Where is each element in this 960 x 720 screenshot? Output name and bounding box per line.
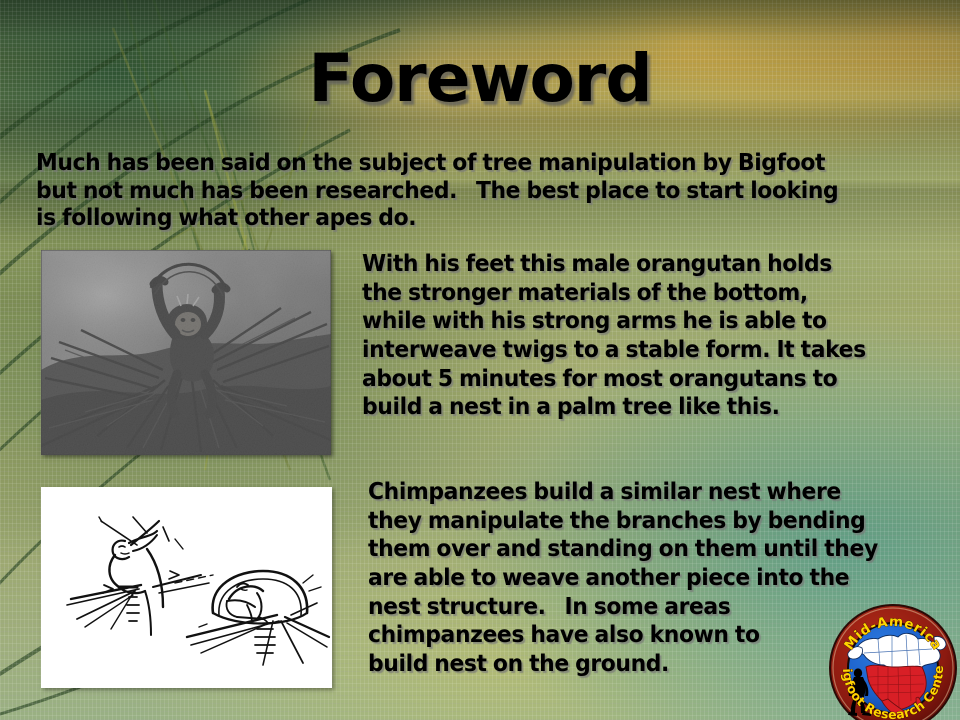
orangutan-caption-line: the stronger materials of the bottom, bbox=[362, 278, 957, 307]
chimpanzee-caption-line: are able to weave another piece into the bbox=[368, 563, 954, 592]
orangutan-caption-line: about 5 minutes for most orangutans to bbox=[362, 364, 957, 393]
orangutan-caption-line: build a nest in a palm tree like this. bbox=[362, 392, 957, 421]
slide-canvas: Foreword Much has been said on the subje… bbox=[0, 0, 960, 720]
orangutan-photo bbox=[41, 250, 331, 455]
intro-paragraph: Much has been said on the subject of tre… bbox=[36, 149, 960, 232]
intro-line: Much has been said on the subject of tre… bbox=[36, 149, 960, 177]
chimpanzee-caption-line: Chimpanzees build a similar nest where bbox=[368, 477, 954, 506]
intro-line: is following what other apes do. bbox=[36, 204, 960, 232]
orangutan-caption-line: interweave twigs to a stable form. It ta… bbox=[362, 335, 957, 364]
chimpanzee-caption-line: they manipulate the branches by bending bbox=[368, 506, 954, 535]
orangutan-caption-line: while with his strong arms he is able to bbox=[362, 306, 957, 335]
page-title: Foreword bbox=[0, 46, 960, 112]
chimpanzee-caption-line: them over and standing on them until the… bbox=[368, 534, 954, 563]
intro-line: but not much has been researched. The be… bbox=[36, 177, 960, 205]
mid-america-bigfoot-research-center-logo: Mid-America Bigfoot Research Center bbox=[826, 601, 960, 720]
chimpanzee-drawing bbox=[41, 487, 332, 688]
orangutan-caption: With his feet this male orangutan holds … bbox=[362, 249, 957, 421]
orangutan-caption-line: With his feet this male orangutan holds bbox=[362, 249, 957, 278]
